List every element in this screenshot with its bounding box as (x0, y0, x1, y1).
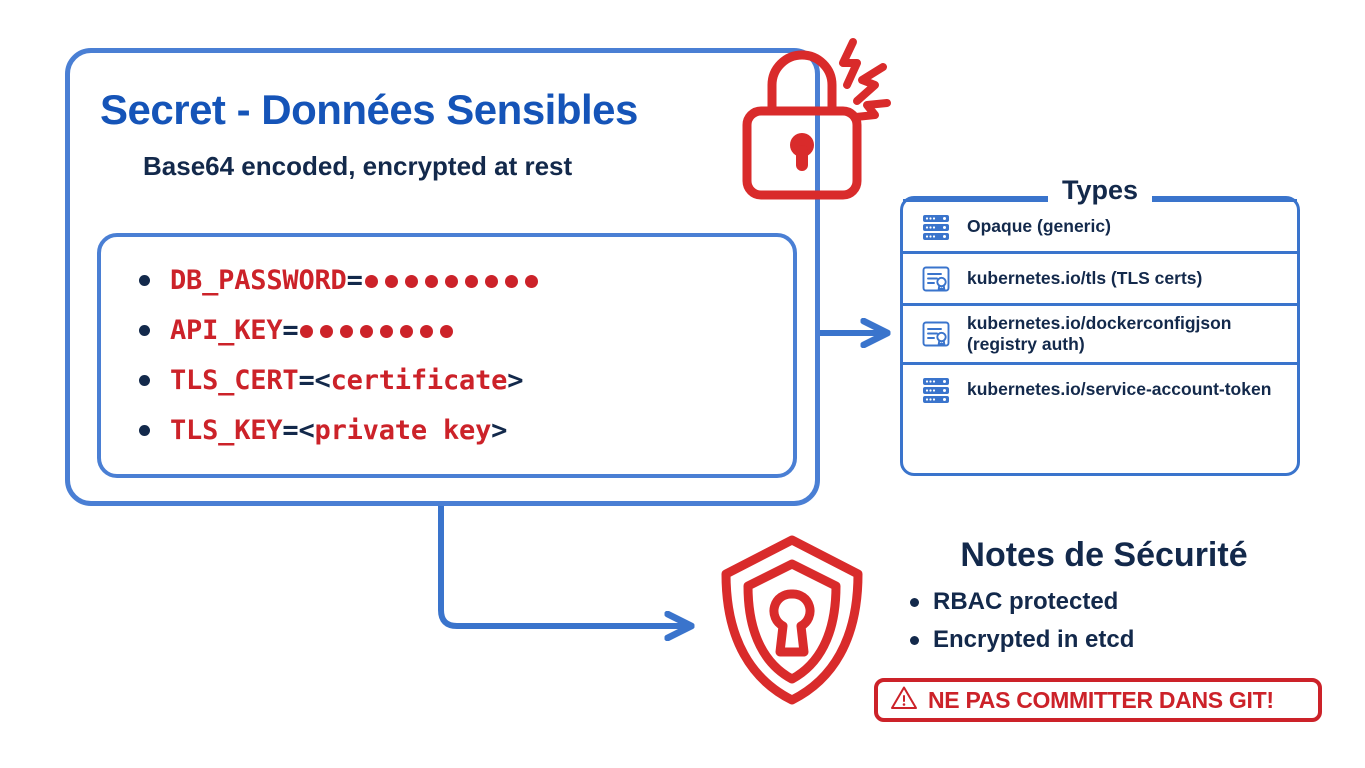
certificate-icon (915, 318, 957, 350)
table-row[interactable]: Opaque (generic) (903, 199, 1297, 251)
type-label: kubernetes.io/tls (TLS certs) (967, 268, 1202, 289)
bullet-icon (139, 275, 150, 286)
list-item: TLS_CERT=<certificate> (101, 355, 793, 405)
page-title: Secret - Données Sensibles (100, 86, 638, 134)
env-value: certificate (331, 365, 508, 396)
bullet-icon (139, 425, 150, 436)
bullet-icon (139, 375, 150, 386)
angle-open: < (315, 365, 331, 396)
list-item: Encrypted in etcd (910, 621, 1324, 659)
env-key: TLS_CERT (170, 365, 298, 396)
table-row[interactable]: kubernetes.io/tls (TLS certs) (903, 251, 1297, 303)
status-badge: NE PAS COMMITTER DANS GIT! (874, 678, 1322, 722)
padlock-alert-icon (735, 33, 905, 213)
masked-value-icon (365, 275, 538, 288)
warning-badge-label: NE PAS COMMITTER DANS GIT! (928, 687, 1274, 714)
security-notes-list: RBAC protected Encrypted in etcd (884, 583, 1324, 659)
warning-triangle-icon (890, 685, 918, 716)
list-item: DB_PASSWORD= (101, 255, 793, 305)
env-vars-box: DB_PASSWORD= API_KEY= TLS_CERT=<certific… (97, 233, 797, 478)
angle-open: < (298, 415, 314, 446)
masked-value-icon (300, 325, 453, 338)
type-label: kubernetes.io/dockerconfigjson (registry… (967, 313, 1287, 355)
arrow-secret-to-notes (441, 506, 690, 626)
type-label: Opaque (generic) (967, 216, 1111, 237)
bullet-icon (139, 325, 150, 336)
env-separator: = (347, 265, 363, 296)
env-key: API_KEY (170, 315, 282, 346)
list-item: TLS_KEY=<private key> (101, 405, 793, 455)
bullet-icon (910, 636, 919, 645)
security-notes: Notes de Sécurité RBAC protected Encrypt… (884, 536, 1324, 659)
type-label: kubernetes.io/service-account-token (967, 379, 1271, 400)
env-key: DB_PASSWORD (170, 265, 347, 296)
angle-close: > (507, 365, 523, 396)
angle-close: > (491, 415, 507, 446)
env-var-tls-key: TLS_KEY=<private key> (170, 415, 507, 446)
types-panel: Types Opaque (generic) (900, 196, 1300, 476)
shield-keyhole-icon (712, 530, 872, 715)
secret-subtitle: Base64 encoded, encrypted at rest (143, 151, 572, 182)
security-notes-title: Notes de Sécurité (884, 536, 1324, 575)
table-row[interactable]: kubernetes.io/service-account-token (903, 362, 1297, 414)
bullet-icon (910, 598, 919, 607)
server-stack-icon (915, 374, 957, 406)
secret-card: Secret - Données Sensibles Base64 encode… (65, 48, 820, 506)
env-key: TLS_KEY (170, 415, 282, 446)
list-item: API_KEY= (101, 305, 793, 355)
diagram-canvas: Secret - Données Sensibles Base64 encode… (0, 0, 1365, 768)
env-separator: = (282, 415, 298, 446)
security-note-label: RBAC protected (933, 588, 1118, 616)
env-var-db-password: DB_PASSWORD= (170, 265, 538, 296)
server-stack-icon (915, 211, 957, 243)
env-value: private key (315, 415, 492, 446)
table-row[interactable]: kubernetes.io/dockerconfigjson (registry… (903, 303, 1297, 362)
env-var-tls-cert: TLS_CERT=<certificate> (170, 365, 523, 396)
security-note-label: Encrypted in etcd (933, 626, 1134, 654)
certificate-icon (915, 263, 957, 295)
list-item: RBAC protected (910, 583, 1324, 621)
env-separator: = (298, 365, 314, 396)
env-separator: = (282, 315, 298, 346)
env-var-api-key: API_KEY= (170, 315, 453, 346)
